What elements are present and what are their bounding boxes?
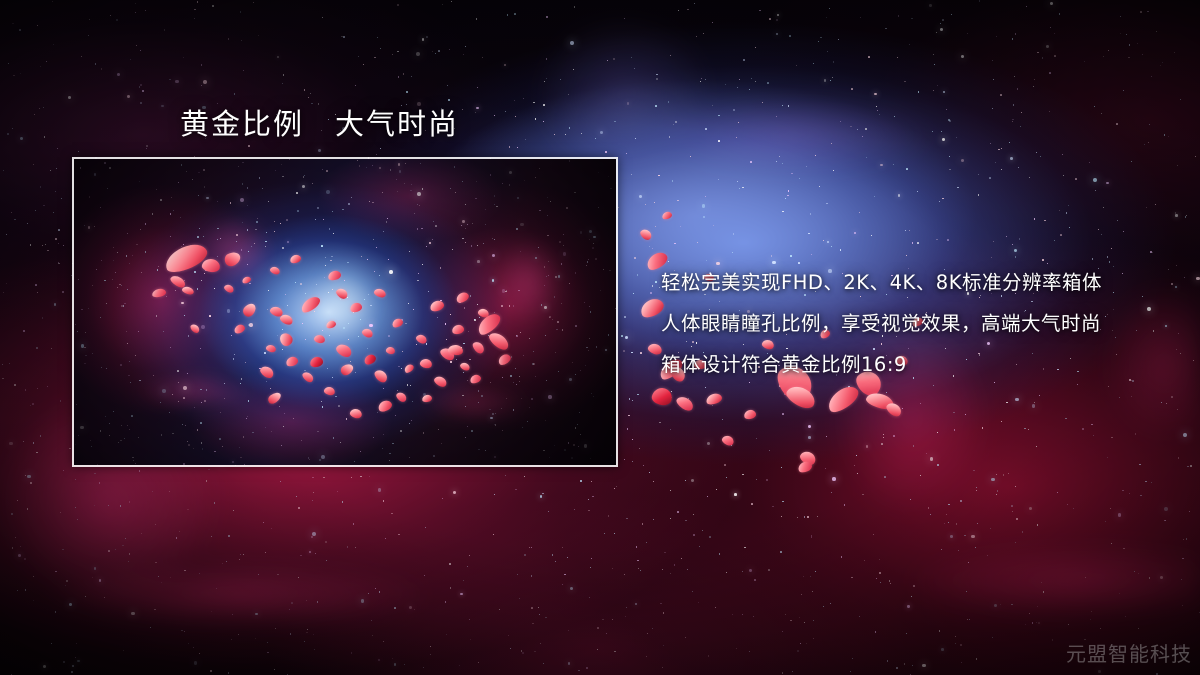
petal: [824, 382, 862, 417]
body-copy: 轻松完美实现FHD、2K、4K、8K标准分辨率箱体 人体眼睛瞳孔比例，享受视觉效…: [661, 262, 1181, 385]
petal: [743, 409, 757, 421]
photo-vignette: [74, 159, 616, 465]
petal: [661, 211, 673, 221]
body-line-3: 箱体设计符合黄金比例16:9: [661, 344, 1181, 385]
body-line-1: 轻松完美实现FHD、2K、4K、8K标准分辨率箱体: [661, 262, 1181, 303]
petal: [721, 434, 736, 447]
petal: [651, 386, 674, 406]
watermark: 元盟智能科技: [1066, 638, 1192, 667]
petal: [674, 394, 695, 413]
photo-content: [74, 159, 616, 465]
framed-photo: [72, 157, 618, 467]
body-line-2: 人体眼睛瞳孔比例，享受视觉效果，高端大气时尚: [661, 303, 1181, 344]
slide-canvas: 黄金比例 大气时尚 轻松完美实现FHD、2K、4K、8K标准分辨率箱体 人体眼睛…: [0, 0, 1200, 675]
petal: [639, 227, 654, 242]
page-title: 黄金比例 大气时尚: [180, 101, 459, 143]
petal: [705, 392, 723, 406]
